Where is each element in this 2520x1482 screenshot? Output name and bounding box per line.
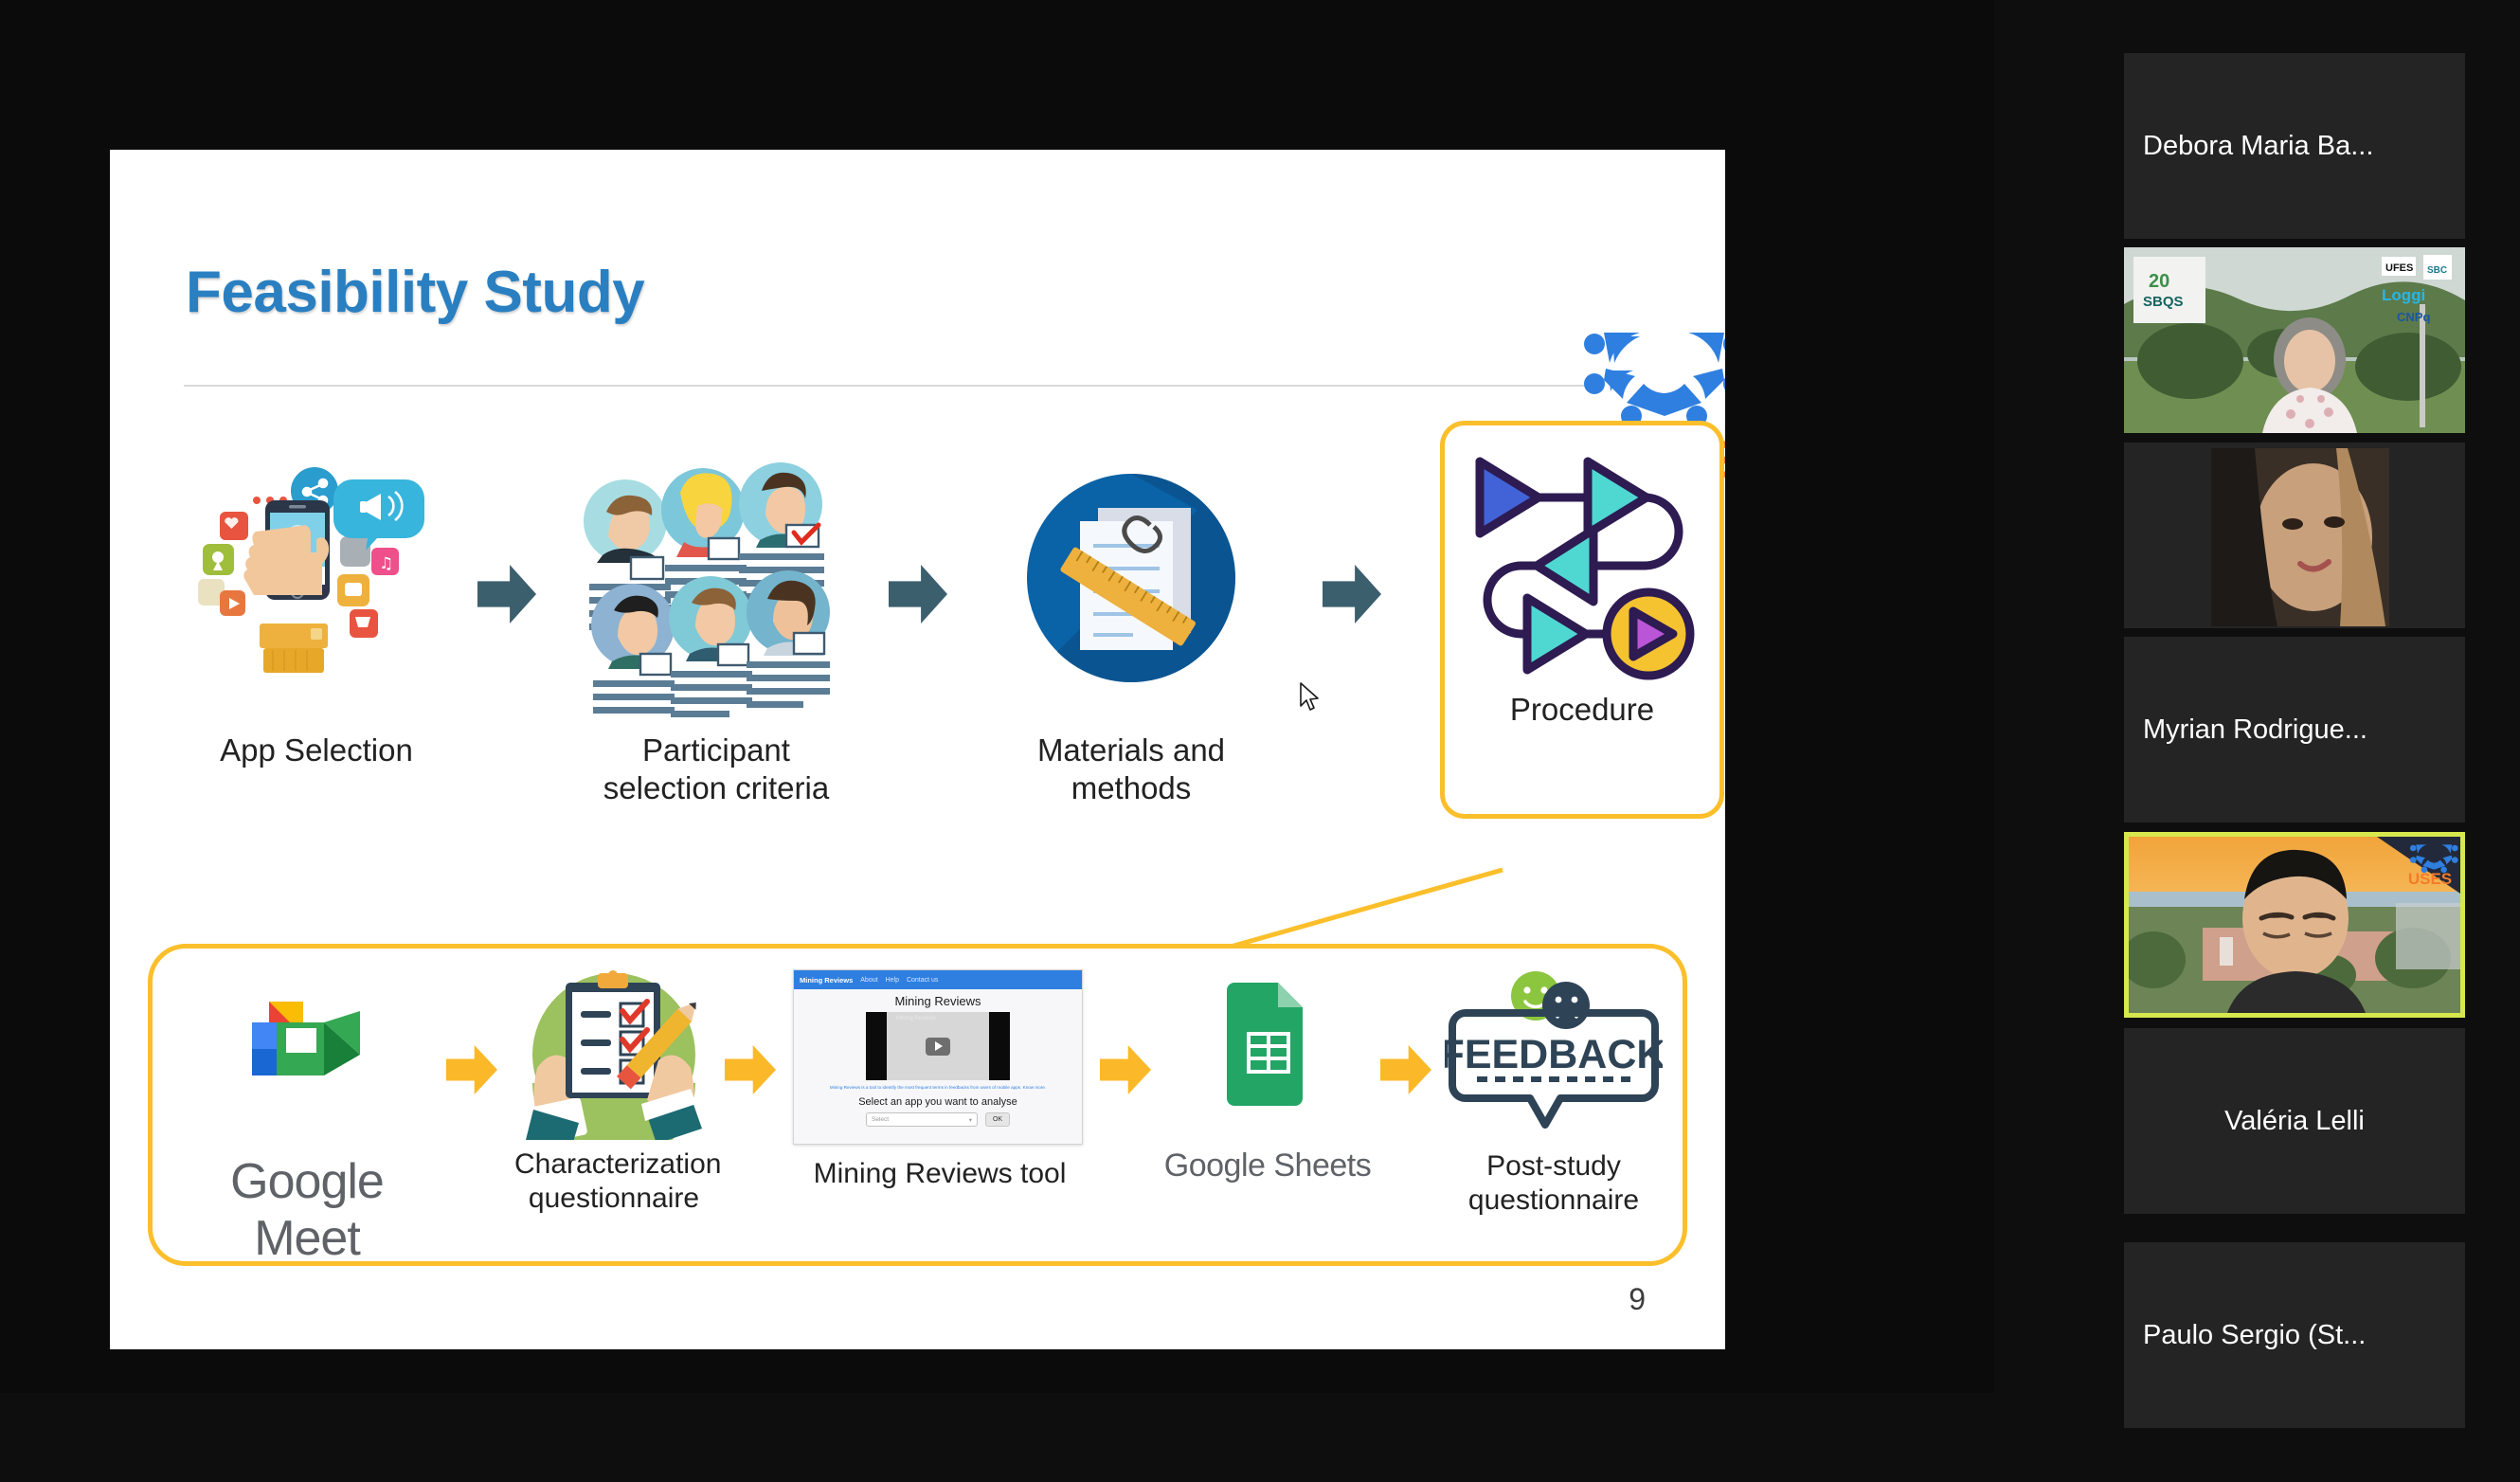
- participant-video: USES: [2129, 837, 2460, 1013]
- bstep-label: Post-study questionnaire: [1435, 1149, 1672, 1218]
- slide-page-number: 9: [1629, 1282, 1646, 1317]
- step-label: Procedure: [1445, 691, 1719, 729]
- participant-tile-6[interactable]: Valéria Lelli: [2124, 1028, 2465, 1214]
- bstep-google-meet[interactable]: Google Meet: [179, 969, 435, 1267]
- step-label: Participant selection criteria: [574, 732, 858, 808]
- nav-link-help[interactable]: Help: [886, 977, 899, 984]
- ok-button[interactable]: OK: [985, 1112, 1010, 1127]
- step-label: App Selection: [193, 732, 440, 769]
- participant-rail[interactable]: Debora Maria Ba...: [2120, 0, 2520, 1482]
- bstep-mining-reviews-tool[interactable]: Mining Reviews About Help Contact us Min…: [793, 969, 1087, 1191]
- bottom-arrow-2-icon: [725, 1045, 776, 1094]
- svg-text:UFES: UFES: [2385, 262, 2413, 274]
- video-title: Mining Reviews: [896, 1016, 936, 1021]
- step-app-selection[interactable]: ♫: [193, 462, 440, 769]
- bstep-label: Mining Reviews tool: [793, 1157, 1087, 1191]
- nav-link-contact-us[interactable]: Contact us: [907, 977, 938, 984]
- mining-reviews-heading: Mining Reviews: [794, 994, 1082, 1008]
- participant-avatar: [2124, 443, 2465, 628]
- clipboard-checklist-hands-icon: [514, 969, 713, 1140]
- participant-tile-3[interactable]: [2124, 443, 2465, 628]
- svg-text:USES: USES: [2408, 870, 2452, 888]
- nav-brand[interactable]: Mining Reviews: [800, 976, 853, 985]
- top-flow-row: ♫: [110, 462, 1725, 860]
- mining-reviews-screenshot-icon: Mining Reviews About Help Contact us Min…: [793, 969, 1087, 1149]
- app-select-value: Select: [872, 1116, 889, 1123]
- bstep-post-study-questionnaire[interactable]: FEEDBACK Post-study questionnaire: [1435, 969, 1672, 1218]
- mining-reviews-body: Mining Reviews Mining Reviews Mining Rev…: [794, 989, 1082, 1145]
- uses-mark-icon: [1581, 325, 1726, 431]
- step-participant-selection-criteria[interactable]: Participant selection criteria: [574, 462, 858, 808]
- app-select-dropdown[interactable]: Select ▾: [866, 1112, 978, 1127]
- slide-canvas: Feasibility Study: [110, 150, 1725, 1349]
- mining-reviews-navbar: Mining Reviews About Help Contact us: [794, 970, 1082, 989]
- select-app-form: Select ▾ OK: [794, 1112, 1082, 1127]
- bottom-arrow-4-icon: [1380, 1045, 1431, 1094]
- google-sheets-wordmark: Google Sheets: [1159, 1148, 1377, 1184]
- svg-text:SBC: SBC: [2427, 265, 2447, 276]
- document-ruler-paperclip-icon: [989, 462, 1273, 718]
- svg-text:CNPq: CNPq: [2397, 310, 2430, 324]
- page-title: Feasibility Study: [186, 259, 644, 326]
- feedback-speech-bubble-icon: FEEDBACK: [1435, 971, 1672, 1142]
- flow-arrow-2-icon: [889, 565, 947, 624]
- people-profiles-checklist-icon: [574, 462, 858, 718]
- participant-tile-5-active-speaker[interactable]: USES: [2124, 832, 2465, 1018]
- chevron-down-icon: ▾: [969, 1116, 972, 1124]
- google-meet-logo-icon: [179, 983, 435, 1153]
- google-sheets-logo-icon: [1159, 977, 1377, 1148]
- participant-tile-1[interactable]: Debora Maria Ba...: [2124, 53, 2465, 239]
- step-procedure[interactable]: Procedure: [1440, 421, 1724, 819]
- flowchart-arrows-play-icon: [1445, 425, 1719, 691]
- select-app-prompt: Select an app you want to analyse: [794, 1096, 1082, 1108]
- nav-link-about[interactable]: About: [860, 977, 877, 984]
- participant-tile-7[interactable]: Paulo Sergio (St...: [2124, 1242, 2465, 1428]
- bottom-arrow-1-icon: [446, 1045, 497, 1094]
- bstep-google-sheets[interactable]: Google Sheets: [1159, 969, 1377, 1184]
- svg-text:Loggi: Loggi: [2382, 286, 2425, 304]
- participant-tile-2[interactable]: 20 SBQS UFES SBC Loggi CNPq: [2124, 247, 2465, 433]
- flow-arrow-1-icon: [477, 565, 536, 624]
- hand-holding-smartphone-apps-icon: ♫: [193, 462, 440, 718]
- know-more-link[interactable]: Know more.: [1023, 1085, 1047, 1090]
- step-materials-and-methods[interactable]: Materials and methods: [989, 462, 1273, 808]
- mining-reviews-description: Mining Reviews is a tool to identify the…: [794, 1085, 1082, 1090]
- mining-reviews-window[interactable]: Mining Reviews About Help Contact us Min…: [793, 969, 1083, 1145]
- video-frame: Mining Reviews: [887, 1012, 989, 1080]
- procedure-detail-panel: Google Meet: [148, 944, 1687, 1266]
- presentation-stage[interactable]: Feasibility Study: [0, 0, 1994, 1393]
- bstep-characterization-questionnaire[interactable]: Characterization questionnaire: [514, 969, 713, 1216]
- title-divider: [184, 385, 1586, 387]
- participant-name: Paulo Sergio (St...: [2124, 1320, 2366, 1351]
- play-button-icon[interactable]: [926, 1038, 950, 1056]
- participant-name: Valéria Lelli: [2224, 1106, 2365, 1137]
- participant-name: Debora Maria Ba...: [2124, 131, 2373, 162]
- mining-reviews-video[interactable]: Mining Reviews: [866, 1012, 1010, 1080]
- step-label: Materials and methods: [989, 732, 1273, 808]
- participant-name: Myrian Rodrigue...: [2124, 714, 2367, 746]
- flow-arrow-3-icon: [1323, 565, 1381, 624]
- participant-tile-4[interactable]: Myrian Rodrigue...: [2124, 637, 2465, 822]
- bstep-label: Characterization questionnaire: [514, 1148, 713, 1216]
- mouse-cursor-icon: [1299, 682, 1322, 714]
- participant-video: 20 SBQS UFES SBC Loggi CNPq: [2124, 247, 2465, 433]
- meet-presentation-screen: Feasibility Study: [0, 0, 2520, 1482]
- svg-text:♫: ♫: [379, 554, 393, 573]
- bottom-arrow-3-icon: [1100, 1045, 1151, 1094]
- svg-text:20: 20: [2149, 271, 2169, 292]
- google-meet-wordmark: Google Meet: [179, 1153, 435, 1267]
- svg-text:FEEDBACK: FEEDBACK: [1445, 1032, 1663, 1077]
- svg-text:SBQS: SBQS: [2143, 294, 2184, 310]
